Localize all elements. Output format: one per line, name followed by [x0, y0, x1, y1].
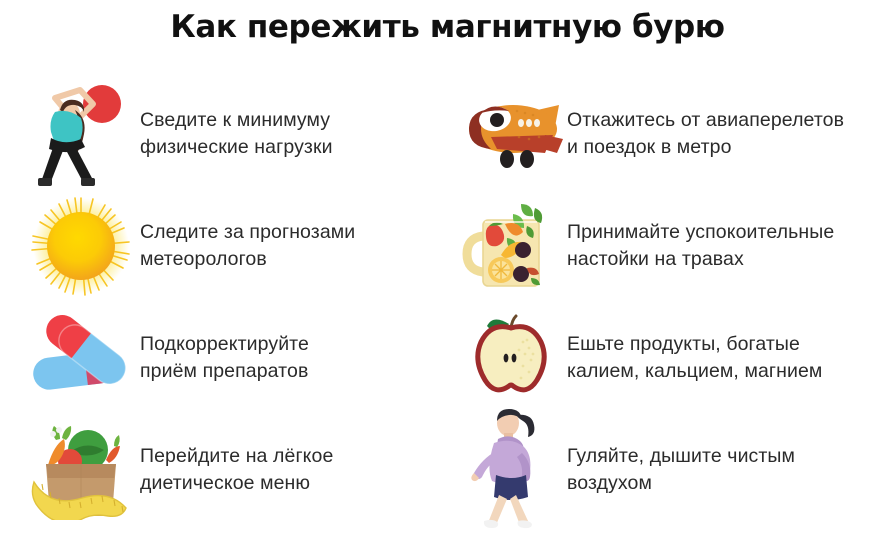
tip-row: Ешьте продукты, богатые калием, кальцием… [455, 302, 895, 414]
pills-capsules-icon [22, 302, 140, 414]
tip-row: Откажитесь от авиаперелетов и поездок в … [455, 78, 895, 190]
page-title: Как пережить магнитную бурю [0, 8, 895, 47]
tip-row: Гуляйте, дышите чистым воздухом [455, 414, 895, 526]
tip-text: Ешьте продукты, богатые калием, кальцием… [567, 331, 822, 385]
tips-column-right: Откажитесь от авиаперелетов и поездок в … [445, 78, 895, 560]
tips-columns: Сведите к минимуму физические нагрузки [0, 78, 895, 560]
halved-apple-icon [455, 302, 567, 414]
walking-woman-icon [455, 414, 567, 526]
tip-text: Сведите к минимуму физические нагрузки [140, 107, 333, 161]
grocery-bag-with-measuring-tape-icon [22, 414, 140, 526]
tip-text: Следите за прогнозами метеорологов [140, 219, 355, 273]
tip-row: Следите за прогнозами метеорологов [22, 190, 445, 302]
herbal-tea-mug-icon [455, 190, 567, 302]
tip-text: Перейдите на лёгкое диетическое меню [140, 443, 333, 497]
tip-text: Откажитесь от авиаперелетов и поездок в … [567, 107, 844, 161]
tip-text: Принимайте успокоительные настойки на тр… [567, 219, 834, 273]
airplane-icon [455, 78, 567, 190]
tip-text: Подкорректируйте приём препаратов [140, 331, 309, 385]
exercise-woman-with-ball-icon [22, 78, 140, 190]
tip-row: Перейдите на лёгкое диетическое меню [22, 414, 445, 526]
sun-icon [22, 190, 140, 302]
tip-text: Гуляйте, дышите чистым воздухом [567, 443, 795, 497]
tip-row: Сведите к минимуму физические нагрузки [22, 78, 445, 190]
infographic-root: Как пережить магнитную бурю [0, 0, 895, 560]
tip-row: Подкорректируйте приём препаратов [22, 302, 445, 414]
tips-column-left: Сведите к минимуму физические нагрузки [0, 78, 445, 560]
tip-row: Принимайте успокоительные настойки на тр… [455, 190, 895, 302]
